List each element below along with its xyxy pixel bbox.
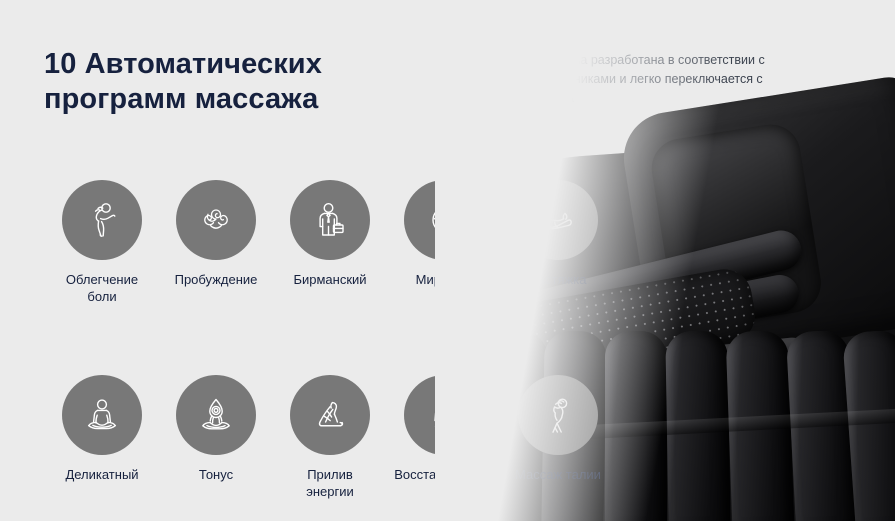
program-label: Бирманский <box>293 271 366 288</box>
program-icon-circle[interactable] <box>404 180 484 260</box>
lotus-meditation-icon <box>78 391 126 439</box>
program-item-tone[interactable]: Тонус <box>159 375 273 500</box>
program-item-energy-surge[interactable]: Прилив энергии <box>273 375 387 500</box>
program-label: Мир снов <box>416 271 473 288</box>
program-item-dream-world[interactable]: Мир снов <box>387 180 501 305</box>
program-grid: Облегчение боли Пробуждение <box>0 180 620 500</box>
chair-headrest <box>617 73 895 367</box>
pain-relief-figure-icon <box>79 197 125 243</box>
program-row-1: Облегчение боли Пробуждение <box>0 180 620 305</box>
program-icon-circle[interactable] <box>62 375 142 455</box>
page-subtitle: Каждая программа разработана в соответст… <box>477 51 807 108</box>
promo-section: 10 Автоматических программ массажа Кажда… <box>0 0 895 521</box>
program-label: Прилив энергии <box>306 466 354 500</box>
reclining-stretch-figure-icon <box>534 196 582 244</box>
standing-figure-icon <box>421 392 467 438</box>
crescent-moon-waves-icon <box>421 197 467 243</box>
program-item-delicate[interactable]: Деликатный <box>45 375 159 500</box>
businessman-briefcase-icon <box>307 197 353 243</box>
program-item-pain-relief[interactable]: Облегчение боли <box>45 180 159 305</box>
program-item-recovery[interactable]: Восстановление <box>387 375 501 500</box>
program-icon-circle[interactable] <box>518 375 598 455</box>
program-label: Восстановление <box>394 466 493 483</box>
program-icon-circle[interactable] <box>176 180 256 260</box>
program-item-awakening[interactable]: Пробуждение <box>159 180 273 305</box>
program-item-stretching[interactable]: Растяжка <box>501 180 615 305</box>
program-label: Растяжка <box>530 271 587 288</box>
yoga-flame-pose-icon <box>192 391 240 439</box>
program-icon-circle[interactable] <box>518 180 598 260</box>
program-item-burmese[interactable]: Бирманский <box>273 180 387 305</box>
downward-dog-pose-icon <box>306 391 354 439</box>
program-icon-circle[interactable] <box>290 180 370 260</box>
program-label: Деликатный <box>65 466 138 483</box>
program-label: Пробуждение <box>175 271 258 288</box>
program-icon-circle[interactable] <box>176 375 256 455</box>
waist-twist-figure-icon <box>535 392 581 438</box>
page-title: 10 Автоматических программ массажа <box>44 47 444 117</box>
program-label: Облегчение боли <box>66 271 138 305</box>
program-label: Тонус <box>199 466 233 483</box>
program-icon-circle[interactable] <box>290 375 370 455</box>
spiral-triskelion-icon <box>193 197 239 243</box>
program-icon-circle[interactable] <box>404 375 484 455</box>
program-item-waist-massage[interactable]: Массаж талии <box>501 375 615 500</box>
program-icon-circle[interactable] <box>62 180 142 260</box>
program-label: Массаж талии <box>515 466 601 483</box>
program-row-2: Деликатный <box>0 375 620 500</box>
